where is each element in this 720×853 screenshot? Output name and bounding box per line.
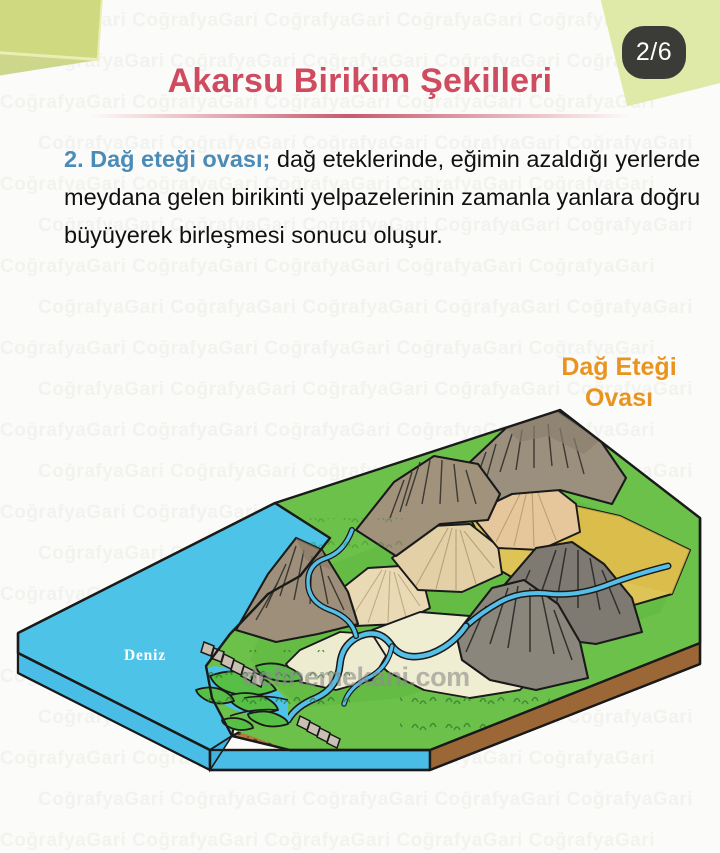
sea-label: Deniz [124,647,166,664]
page-counter-badge: 2/6 [622,26,686,79]
body-lead-term: 2. Dağ eteği ovası; [64,146,270,172]
callout-label-dag-etegi-ovasi: Dağ Eteği Ovası [534,352,704,414]
block-diagram-illustration: Deniz definemekani.com [0,398,720,798]
callout-label-line2: Ovası [534,383,704,414]
source-watermark: definemekani.com [242,662,470,692]
sticky-note-top-left-front [0,0,103,58]
page-title: Akarsu Birikim Şekilleri [0,62,720,101]
callout-label-line1: Dağ Eteği [534,352,704,383]
background-watermark-line: CoğrafyaGari CoğrafyaGari CoğrafyaGari C… [0,820,720,853]
title-divider [90,114,630,118]
background-watermark-line: CoğrafyaGari CoğrafyaGari CoğrafyaGari C… [0,287,720,328]
body-paragraph: 2. Dağ eteği ovası; dağ eteklerinde, eği… [64,140,714,254]
slide-page: CoğrafyaGari CoğrafyaGari CoğrafyaGari C… [0,0,720,853]
